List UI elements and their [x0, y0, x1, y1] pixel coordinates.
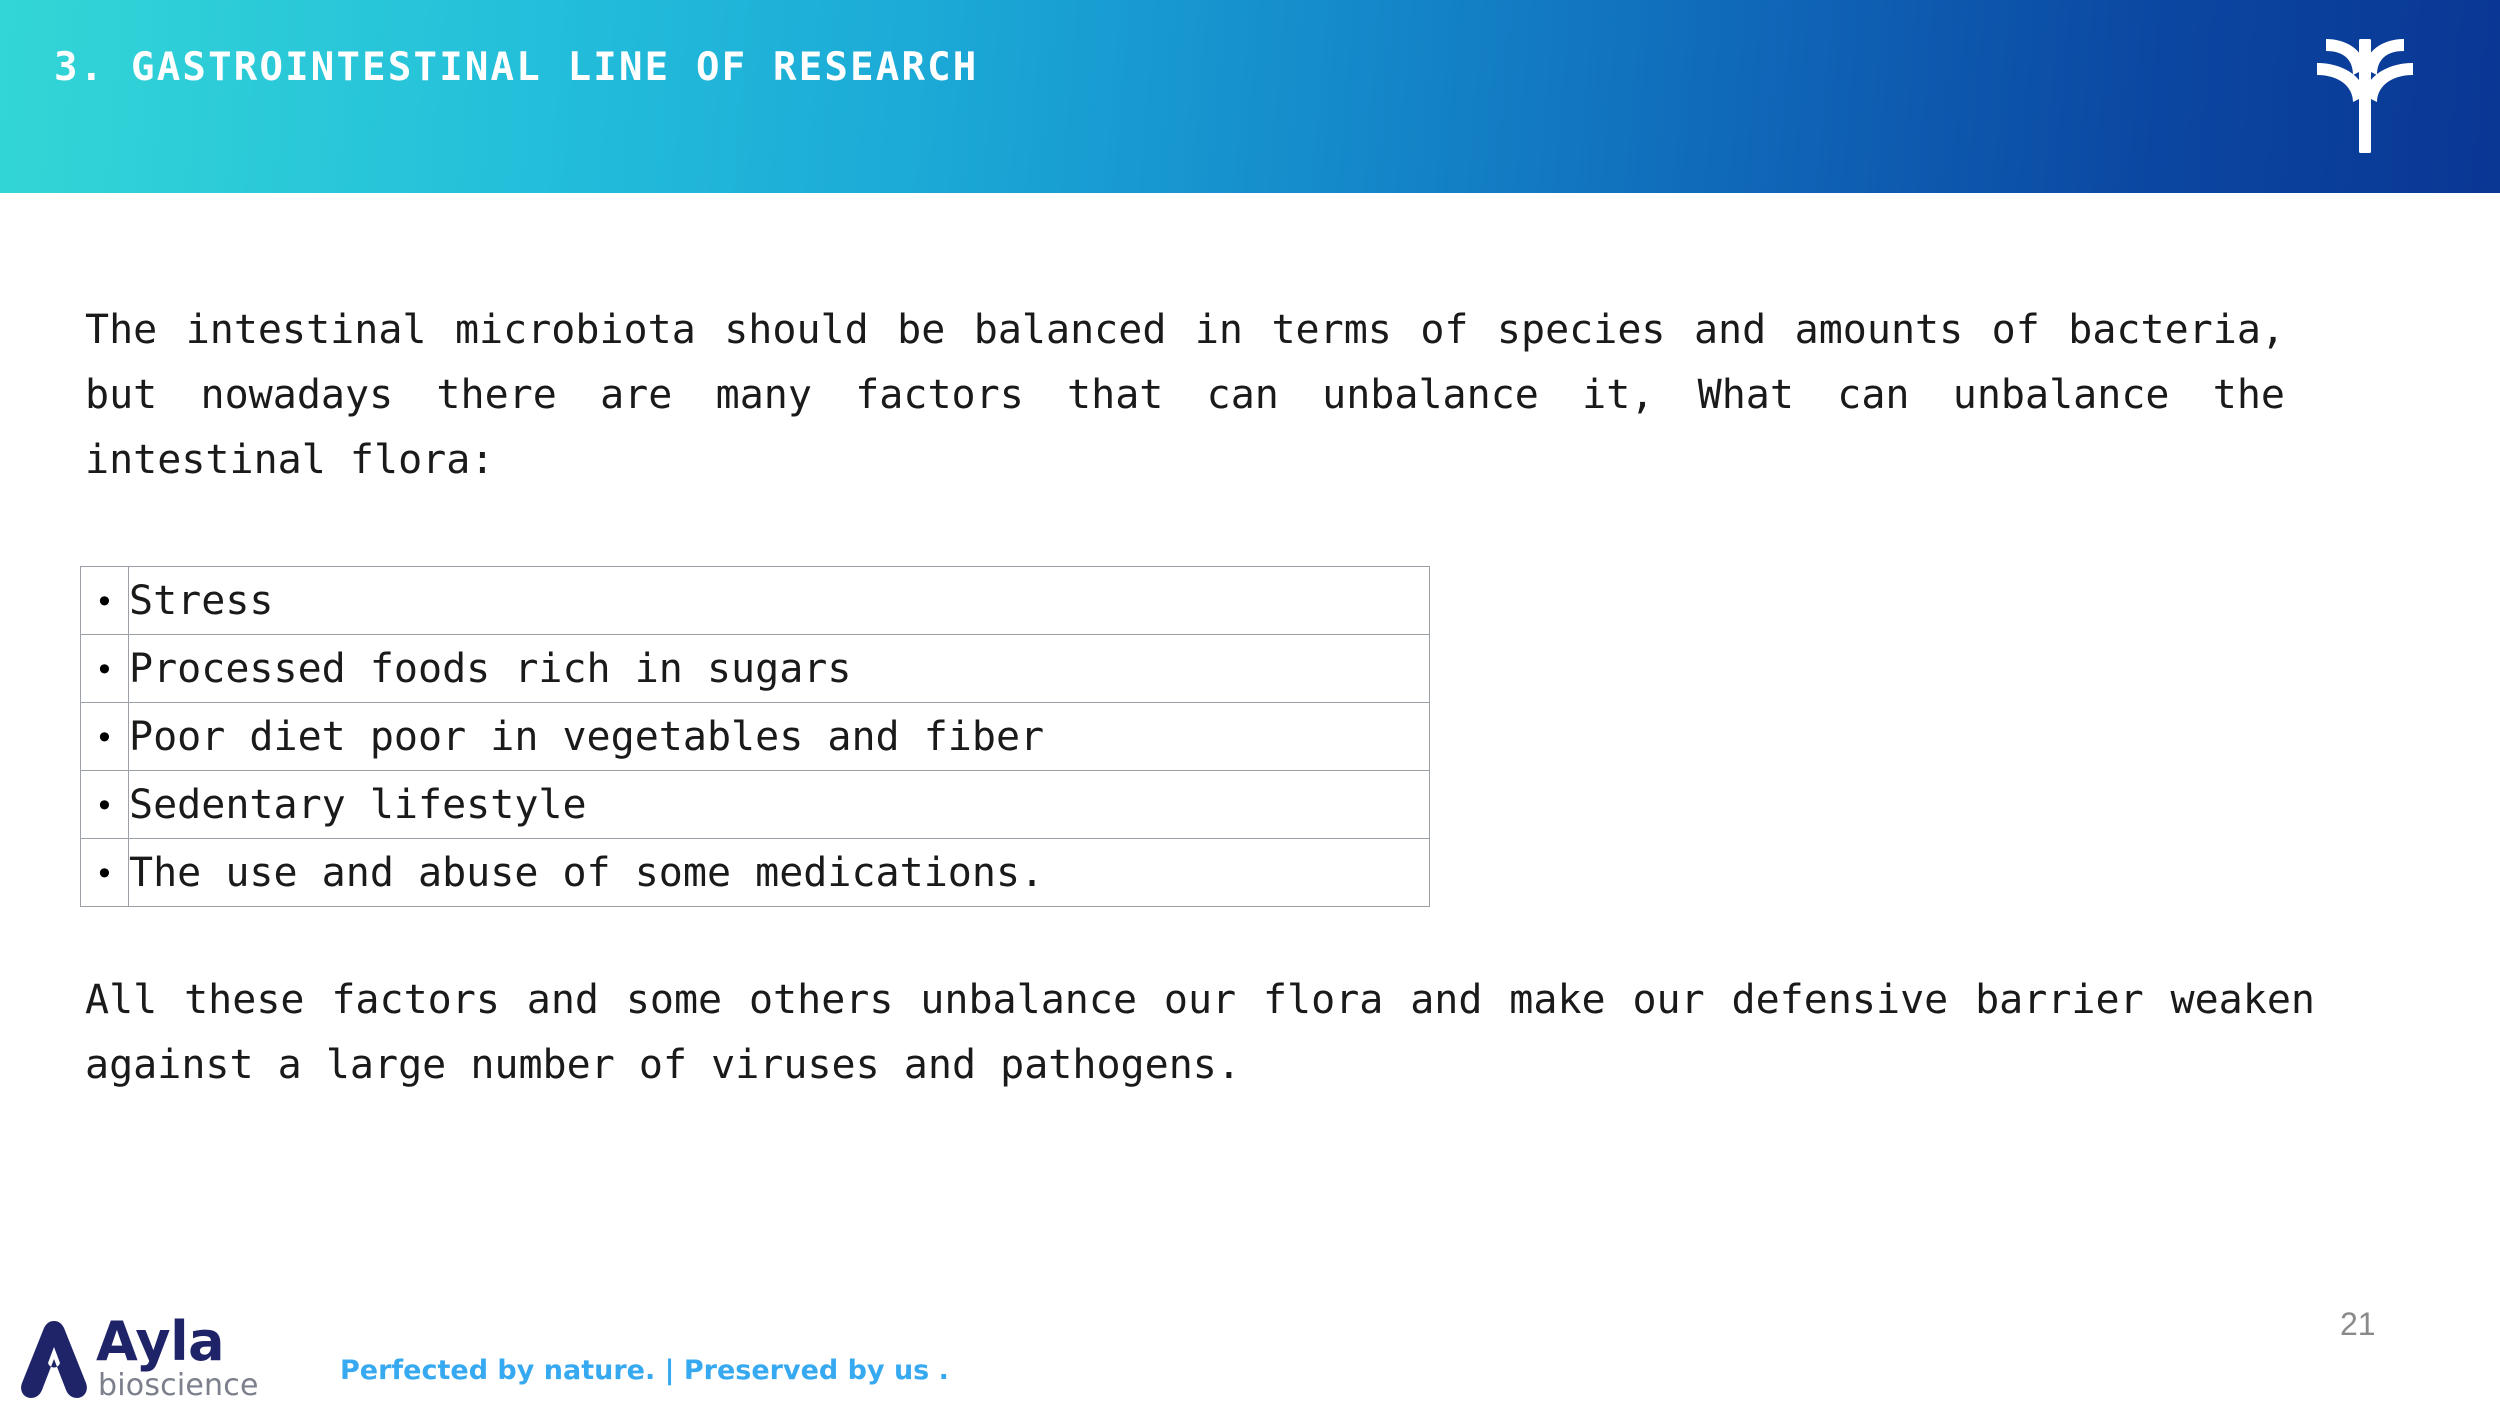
intro-paragraph: The intestinal microbiota should be bala… [85, 298, 2285, 493]
table-row: • Processed foods rich in sugars [81, 635, 1430, 703]
bullet-cell: • [81, 703, 129, 771]
bullet-cell: • [81, 635, 129, 703]
bullet-icon: • [99, 788, 111, 822]
table-row: • Poor diet poor in vegetables and fiber [81, 703, 1430, 771]
bullet-icon: • [99, 652, 111, 686]
bullet-cell: • [81, 839, 129, 907]
factor-label: Processed foods rich in sugars [129, 635, 1430, 703]
factor-label: The use and abuse of some medications. [129, 839, 1430, 907]
page-title: 3. GASTROINTESTINAL LINE OF RESEARCH [54, 48, 978, 87]
bullet-icon: • [99, 584, 111, 618]
factor-label: Poor diet poor in vegetables and fiber [129, 703, 1430, 771]
factors-table: • Stress • Processed foods rich in sugar… [80, 566, 1430, 907]
footer-tagline: Perfected by nature. | Preserved by us . [340, 1355, 949, 1386]
table-row: • The use and abuse of some medications. [81, 839, 1430, 907]
brand-name: Ayla [96, 1315, 224, 1369]
bullet-icon: • [99, 856, 111, 890]
factor-label: Sedentary lifestyle [129, 771, 1430, 839]
slide-header-bar: 3. GASTROINTESTINAL LINE OF RESEARCH [0, 0, 2500, 193]
bullet-icon: • [99, 720, 111, 754]
ayla-brand-logo: Ayla bioscience [18, 1315, 258, 1403]
table-row: • Stress [81, 567, 1430, 635]
factor-label: Stress [129, 567, 1430, 635]
slide-content-area: The intestinal microbiota should be bala… [0, 193, 2500, 1406]
table-row: • Sedentary lifestyle [81, 771, 1430, 839]
ayla-a-mark-icon [18, 1317, 90, 1401]
tree-logo-icon [2290, 18, 2440, 168]
bullet-cell: • [81, 771, 129, 839]
brand-subtitle: bioscience [98, 1371, 259, 1401]
page-number: 21 [2340, 1306, 2376, 1343]
bullet-cell: • [81, 567, 129, 635]
outro-paragraph: All these factors and some others unbala… [85, 968, 2315, 1098]
